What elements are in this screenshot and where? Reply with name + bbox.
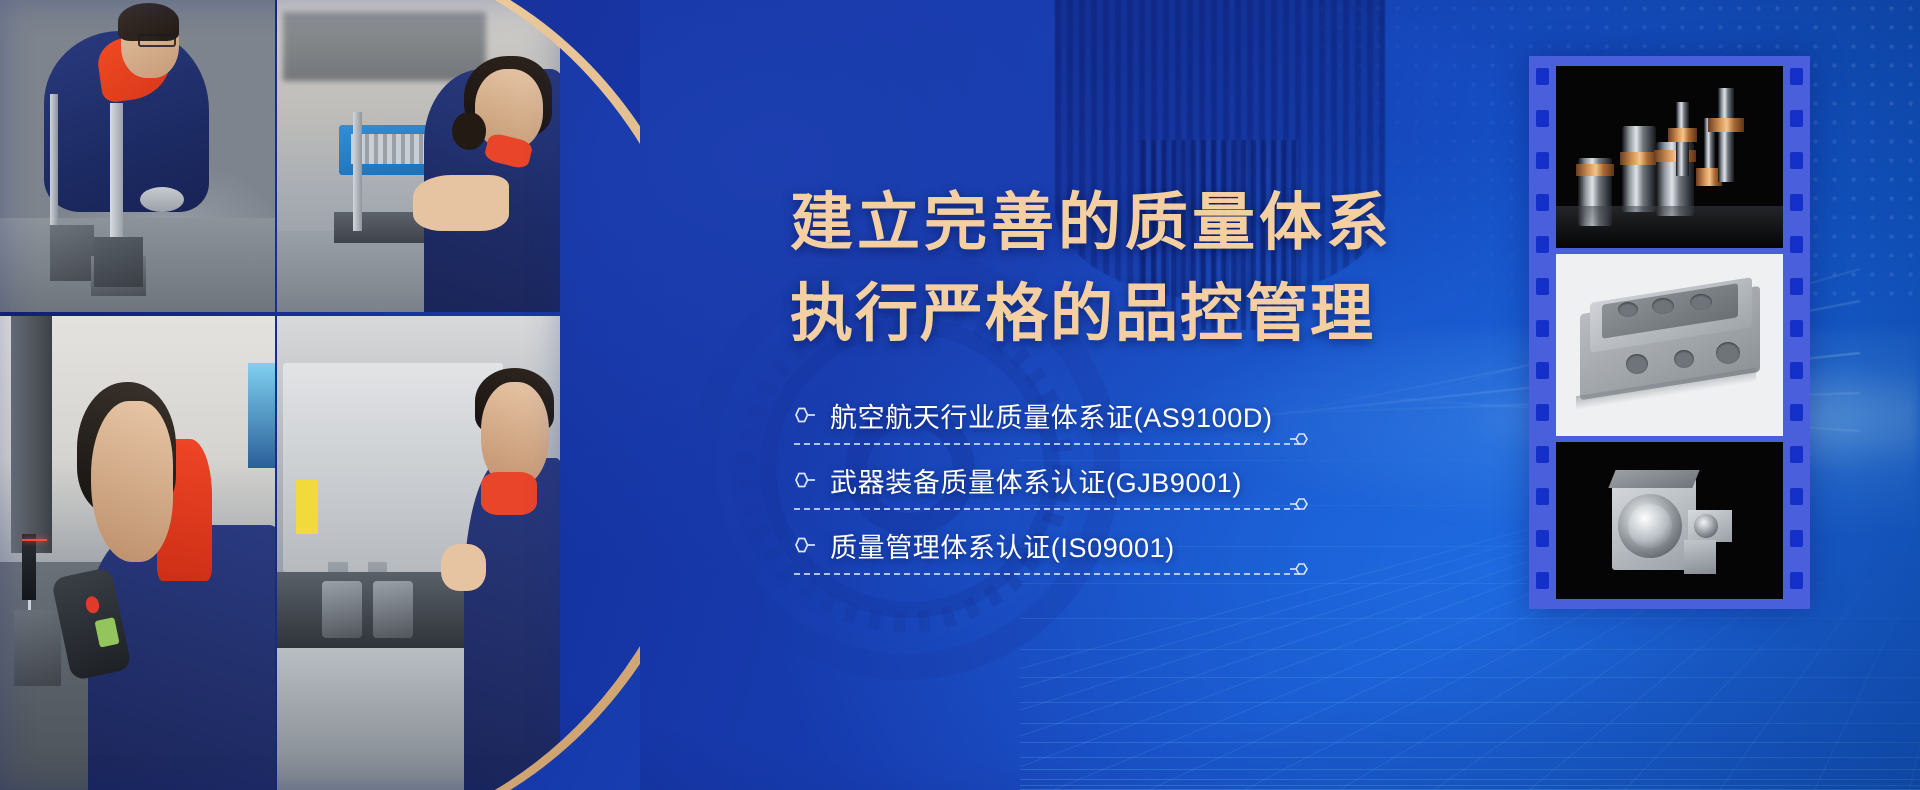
certification-label: 质量管理体系认证(IS09001) (830, 526, 1175, 565)
certification-divider (794, 508, 1300, 510)
headline-block: 建立完善的质量体系 执行严格的品控管理 (790, 178, 1430, 359)
filmstrip-perforation (1536, 446, 1549, 463)
filmstrip-perforation (1790, 572, 1803, 589)
filmstrip-frame-1 (1556, 66, 1783, 248)
hexagon-end-marker-icon (1290, 494, 1310, 514)
hexagon-end-marker-icon (1290, 429, 1310, 449)
filmstrip-perforation (1536, 530, 1549, 547)
filmstrip-perforation (1790, 320, 1803, 337)
filmstrip-perforation (1790, 362, 1803, 379)
product-filmstrip (1529, 56, 1810, 609)
filmstrip-perforation (1790, 194, 1803, 211)
filmstrip-perforation (1536, 68, 1549, 85)
certification-item[interactable]: 武器装备质量体系认证(GJB9001) (792, 458, 1412, 523)
headline-line-2: 执行严格的品控管理 (790, 269, 1430, 360)
filmstrip-perforation (1536, 488, 1549, 505)
filmstrip-perforation (1790, 68, 1803, 85)
filmstrip-perforation (1536, 404, 1549, 421)
certification-divider (794, 443, 1300, 445)
filmstrip-perforation (1790, 488, 1803, 505)
filmstrip-perforation (1536, 320, 1549, 337)
filmstrip-perforation (1790, 236, 1803, 253)
headline-line-1: 建立完善的质量体系 (790, 178, 1430, 269)
filmstrip-perforation (1790, 530, 1803, 547)
hexagon-bullet-icon (792, 405, 816, 425)
filmstrip-perforation (1790, 404, 1803, 421)
certification-label: 武器装备质量体系认证(GJB9001) (830, 461, 1242, 500)
quality-system-banner: 建立完善的质量体系 执行严格的品控管理 航空航天行业质量体系证(AS9100D) (0, 0, 1920, 790)
certification-item[interactable]: 质量管理体系认证(IS09001) (792, 523, 1412, 588)
filmstrip-perforation (1790, 446, 1803, 463)
filmstrip-perforation (1536, 236, 1549, 253)
filmstrip-perforation (1536, 278, 1549, 295)
filmstrip-perforation (1536, 152, 1549, 169)
collage-photo-1 (0, 0, 275, 312)
filmstrip-perforation (1790, 152, 1803, 169)
certification-divider (794, 573, 1300, 575)
filmstrip-perforation (1536, 362, 1549, 379)
collage-photo-3 (0, 316, 275, 790)
photo-collage (0, 0, 560, 790)
headline-and-certifications: 建立完善的质量体系 执行严格的品控管理 航空航天行业质量体系证(AS9100D) (790, 0, 1430, 790)
filmstrip-perforation (1536, 572, 1549, 589)
filmstrip-perforation (1536, 110, 1549, 127)
filmstrip-frame-2 (1556, 254, 1783, 436)
collage-photo-4 (277, 316, 560, 790)
hexagon-end-marker-icon (1290, 559, 1310, 579)
hexagon-bullet-icon (792, 470, 816, 490)
filmstrip-perforation (1536, 194, 1549, 211)
certification-item[interactable]: 航空航天行业质量体系证(AS9100D) (792, 393, 1412, 458)
filmstrip-frame-3 (1556, 442, 1783, 599)
certification-label: 航空航天行业质量体系证(AS9100D) (830, 396, 1273, 435)
collage-photo-2 (277, 0, 560, 312)
certification-list: 航空航天行业质量体系证(AS9100D) 武器装备质量体系认证(GJB9001) (792, 393, 1412, 588)
hexagon-bullet-icon (792, 535, 816, 555)
filmstrip-perforation (1790, 110, 1803, 127)
filmstrip-perforation (1790, 278, 1803, 295)
